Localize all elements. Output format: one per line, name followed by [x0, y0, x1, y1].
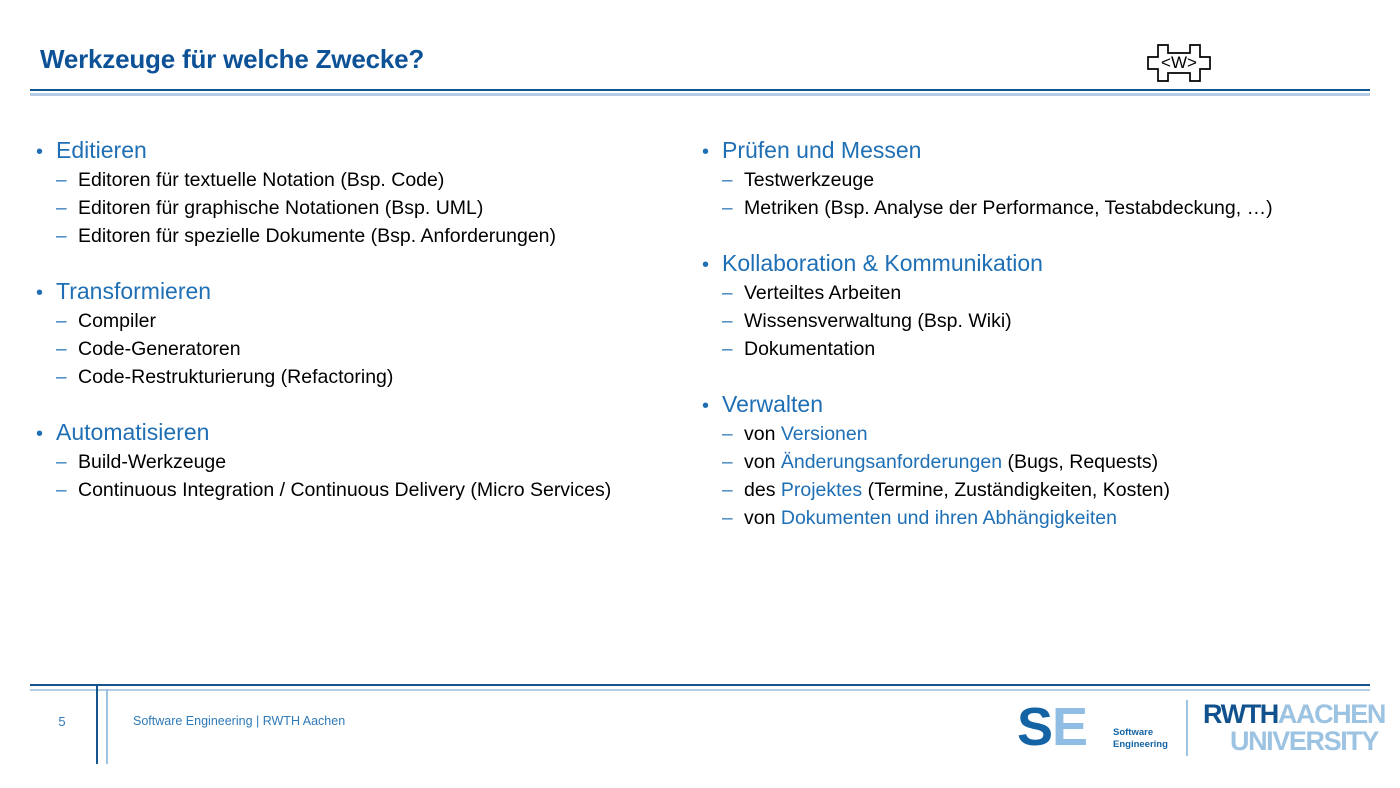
list-item: –Editoren für textuelle Notation (Bsp. C…: [56, 167, 694, 195]
footer-caption: Software Engineering | RWTH Aachen: [133, 714, 345, 728]
plain-text: des: [744, 479, 781, 501]
highlighted-term: Dokumenten und ihren Abhängigkeiten: [781, 507, 1117, 529]
content-column-right: •Prüfen und Messen–Testwerkzeuge–Metrike…: [700, 136, 1380, 559]
header-rule-light: [30, 93, 1370, 96]
bullet-icon: •: [700, 253, 722, 278]
se-logo-mark: SE: [1017, 700, 1087, 754]
list-item-text: Testwerkzeuge: [744, 167, 1380, 195]
plain-text: von: [744, 507, 781, 529]
list-item-text: Editoren für textuelle Notation (Bsp. Co…: [78, 167, 694, 195]
dash-icon: –: [722, 196, 744, 223]
logo-divider: [1186, 700, 1188, 756]
list-item-text: Continuous Integration / Continuous Deli…: [78, 477, 694, 505]
list-item-text: Editoren für spezielle Dokumente (Bsp. A…: [78, 223, 694, 251]
plain-text: Verteiltes Arbeiten: [744, 282, 901, 304]
content-group: •Kollaboration & Kommunikation–Verteilte…: [700, 249, 1380, 364]
rwth-logo-university: UNIVERSITY: [1203, 727, 1378, 755]
list-item: –Metriken (Bsp. Analyse der Performance,…: [722, 195, 1380, 223]
dash-icon: –: [56, 365, 78, 392]
dash-icon: –: [56, 196, 78, 223]
plain-text: Continuous Integration / Continuous Deli…: [78, 479, 611, 501]
plain-text: Testwerkzeuge: [744, 169, 874, 191]
group-title: Kollaboration & Kommunikation: [722, 249, 1380, 278]
bullet-icon: •: [700, 140, 722, 165]
list-item: –Continuous Integration / Continuous Del…: [56, 477, 694, 505]
list-item: –Verteiltes Arbeiten: [722, 280, 1380, 308]
group-heading: •Editieren: [34, 136, 694, 165]
plain-text: Metriken (Bsp. Analyse der Performance, …: [744, 197, 1273, 219]
highlighted-term: Projektes: [781, 479, 862, 501]
list-item-text: Wissensverwaltung (Bsp. Wiki): [744, 308, 1380, 336]
sub-list: –Verteiltes Arbeiten–Wissensverwaltung (…: [700, 280, 1380, 364]
list-item-text: Dokumentation: [744, 336, 1380, 364]
sub-list: –Compiler–Code-Generatoren–Code-Restrukt…: [34, 308, 694, 392]
list-item: –Build-Werkzeuge: [56, 449, 694, 477]
plain-text: Build-Werkzeuge: [78, 451, 226, 473]
dash-icon: –: [56, 450, 78, 477]
sub-list: –Editoren für textuelle Notation (Bsp. C…: [34, 167, 694, 251]
list-item-text: von Dokumenten und ihren Abhängigkeiten: [744, 505, 1380, 533]
group-title: Editieren: [56, 136, 694, 165]
plain-text: (Termine, Zuständigkeiten, Kosten): [862, 479, 1170, 501]
content-group: •Automatisieren–Build-Werkzeuge–Continuo…: [34, 418, 694, 505]
list-item-text: Metriken (Bsp. Analyse der Performance, …: [744, 195, 1380, 223]
list-item: –Testwerkzeuge: [722, 167, 1380, 195]
dash-icon: –: [722, 309, 744, 336]
list-item-text: Code-Generatoren: [78, 336, 694, 364]
se-logo-wordmark: Software Engineering: [1113, 727, 1168, 751]
group-heading: •Verwalten: [700, 390, 1380, 419]
se-logo: SE Software Engineering: [1017, 702, 1177, 758]
group-title: Verwalten: [722, 390, 1380, 419]
list-item-text: Compiler: [78, 308, 694, 336]
dash-icon: –: [56, 478, 78, 505]
dash-icon: –: [722, 337, 744, 364]
plain-text: Dokumentation: [744, 338, 875, 360]
plain-text: von: [744, 451, 781, 473]
dash-icon: –: [56, 224, 78, 251]
list-item-text: des Projektes (Termine, Zuständigkeiten,…: [744, 477, 1380, 505]
rwth-logo-line1: RWTHAACHEN: [1203, 700, 1385, 728]
content-group: •Editieren–Editoren für textuelle Notati…: [34, 136, 694, 251]
se-logo-word-software: Software: [1113, 727, 1168, 739]
header-rule-dark: [30, 89, 1370, 91]
group-title: Automatisieren: [56, 418, 694, 447]
dash-icon: –: [722, 168, 744, 195]
bullet-icon: •: [34, 140, 56, 165]
sub-list: –von Versionen–von Änderungsanforderunge…: [700, 421, 1380, 533]
rwth-logo: RWTHAACHEN UNIVERSITY: [1203, 700, 1378, 758]
plain-text: Code-Generatoren: [78, 338, 241, 360]
dash-icon: –: [722, 506, 744, 533]
list-item: –Editoren für spezielle Dokumente (Bsp. …: [56, 223, 694, 251]
list-item: –Wissensverwaltung (Bsp. Wiki): [722, 308, 1380, 336]
slide-canvas: Werkzeuge für welche Zwecke? <W> •Editie…: [0, 0, 1400, 788]
footer-rule-dark: [30, 684, 1370, 686]
list-item: –von Versionen: [722, 421, 1380, 449]
bullet-icon: •: [700, 394, 722, 419]
plain-text: Editoren für textuelle Notation (Bsp. Co…: [78, 169, 444, 191]
footer-vertical-rule-dark: [96, 684, 98, 764]
highlighted-term: Änderungsanforderungen: [781, 451, 1002, 473]
list-item: –Editoren für graphische Notationen (Bsp…: [56, 195, 694, 223]
list-item-text: von Versionen: [744, 421, 1380, 449]
list-item-text: von Änderungsanforderungen (Bugs, Reques…: [744, 449, 1380, 477]
content-group: •Transformieren–Compiler–Code-Generatore…: [34, 277, 694, 392]
footer-vertical-rule-light: [106, 689, 108, 764]
page-title: Werkzeuge für welche Zwecke?: [40, 44, 424, 75]
list-item-text: Build-Werkzeuge: [78, 449, 694, 477]
plain-text: Code-Restrukturierung (Refactoring): [78, 366, 393, 388]
content-group: •Prüfen und Messen–Testwerkzeuge–Metrike…: [700, 136, 1380, 223]
list-item: –Code-Generatoren: [56, 336, 694, 364]
footer-rule-light: [30, 689, 1370, 691]
dash-icon: –: [56, 337, 78, 364]
dash-icon: –: [722, 478, 744, 505]
slide-header: Werkzeuge für welche Zwecke? <W>: [0, 0, 1400, 100]
group-title: Prüfen und Messen: [722, 136, 1380, 165]
group-heading: •Kollaboration & Kommunikation: [700, 249, 1380, 278]
sub-list: –Testwerkzeuge–Metriken (Bsp. Analyse de…: [700, 167, 1380, 223]
plain-text: von: [744, 423, 781, 445]
group-heading: •Automatisieren: [34, 418, 694, 447]
highlighted-term: Versionen: [781, 423, 868, 445]
list-item: –von Änderungsanforderungen (Bugs, Reque…: [722, 449, 1380, 477]
bullet-icon: •: [34, 281, 56, 306]
dash-icon: –: [722, 450, 744, 477]
list-item-text: Verteiltes Arbeiten: [744, 280, 1380, 308]
plain-text: (Bugs, Requests): [1002, 451, 1158, 473]
content-group: •Verwalten–von Versionen–von Änderungsan…: [700, 390, 1380, 533]
sub-list: –Build-Werkzeuge–Continuous Integration …: [34, 449, 694, 505]
page-number: 5: [36, 714, 88, 729]
list-item-text: Code-Restrukturierung (Refactoring): [78, 364, 694, 392]
component-icon-label: <W>: [1144, 41, 1214, 85]
group-title: Transformieren: [56, 277, 694, 306]
dash-icon: –: [722, 422, 744, 449]
list-item-text: Editoren für graphische Notationen (Bsp.…: [78, 195, 694, 223]
plain-text: Compiler: [78, 310, 156, 332]
plain-text: Wissensverwaltung (Bsp. Wiki): [744, 310, 1012, 332]
plain-text: Editoren für graphische Notationen (Bsp.…: [78, 197, 483, 219]
plain-text: Editoren für spezielle Dokumente (Bsp. A…: [78, 225, 556, 247]
list-item: –Dokumentation: [722, 336, 1380, 364]
se-logo-letter-e: E: [1052, 697, 1087, 757]
dash-icon: –: [56, 168, 78, 195]
component-icon: <W>: [1144, 41, 1214, 85]
content-column-left: •Editieren–Editoren für textuelle Notati…: [34, 136, 694, 531]
rwth-logo-aachen: AACHEN: [1278, 699, 1385, 729]
rwth-logo-rwth: RWTH: [1203, 699, 1278, 729]
list-item: –Code-Restrukturierung (Refactoring): [56, 364, 694, 392]
se-logo-letter-s: S: [1017, 697, 1052, 757]
group-heading: •Transformieren: [34, 277, 694, 306]
se-logo-word-engineering: Engineering: [1113, 739, 1168, 751]
list-item: –von Dokumenten und ihren Abhängigkeiten: [722, 505, 1380, 533]
bullet-icon: •: [34, 422, 56, 447]
list-item: –Compiler: [56, 308, 694, 336]
list-item: –des Projektes (Termine, Zuständigkeiten…: [722, 477, 1380, 505]
dash-icon: –: [56, 309, 78, 336]
group-heading: •Prüfen und Messen: [700, 136, 1380, 165]
dash-icon: –: [722, 281, 744, 308]
